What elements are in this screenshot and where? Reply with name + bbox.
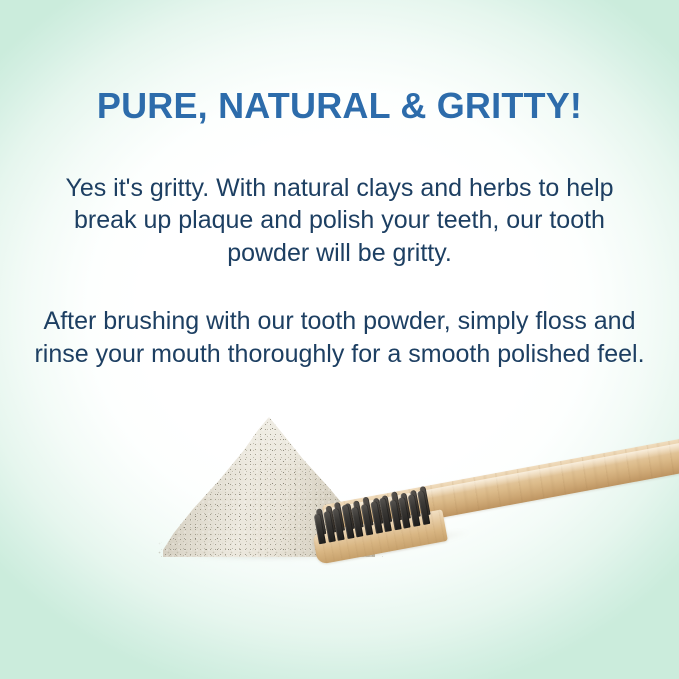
infographic-card: PURE, NATURAL & GRITTY! Yes it's gritty.… bbox=[0, 0, 679, 679]
page-title: PURE, NATURAL & GRITTY! bbox=[0, 0, 679, 126]
body-paragraph-1: Yes it's gritty. With natural clays and … bbox=[40, 126, 640, 270]
text-block: PURE, NATURAL & GRITTY! Yes it's gritty.… bbox=[0, 0, 679, 370]
bamboo-toothbrush-image bbox=[305, 453, 679, 583]
product-photo bbox=[0, 395, 679, 625]
body-paragraph-2: After brushing with our tooth powder, si… bbox=[20, 269, 660, 370]
